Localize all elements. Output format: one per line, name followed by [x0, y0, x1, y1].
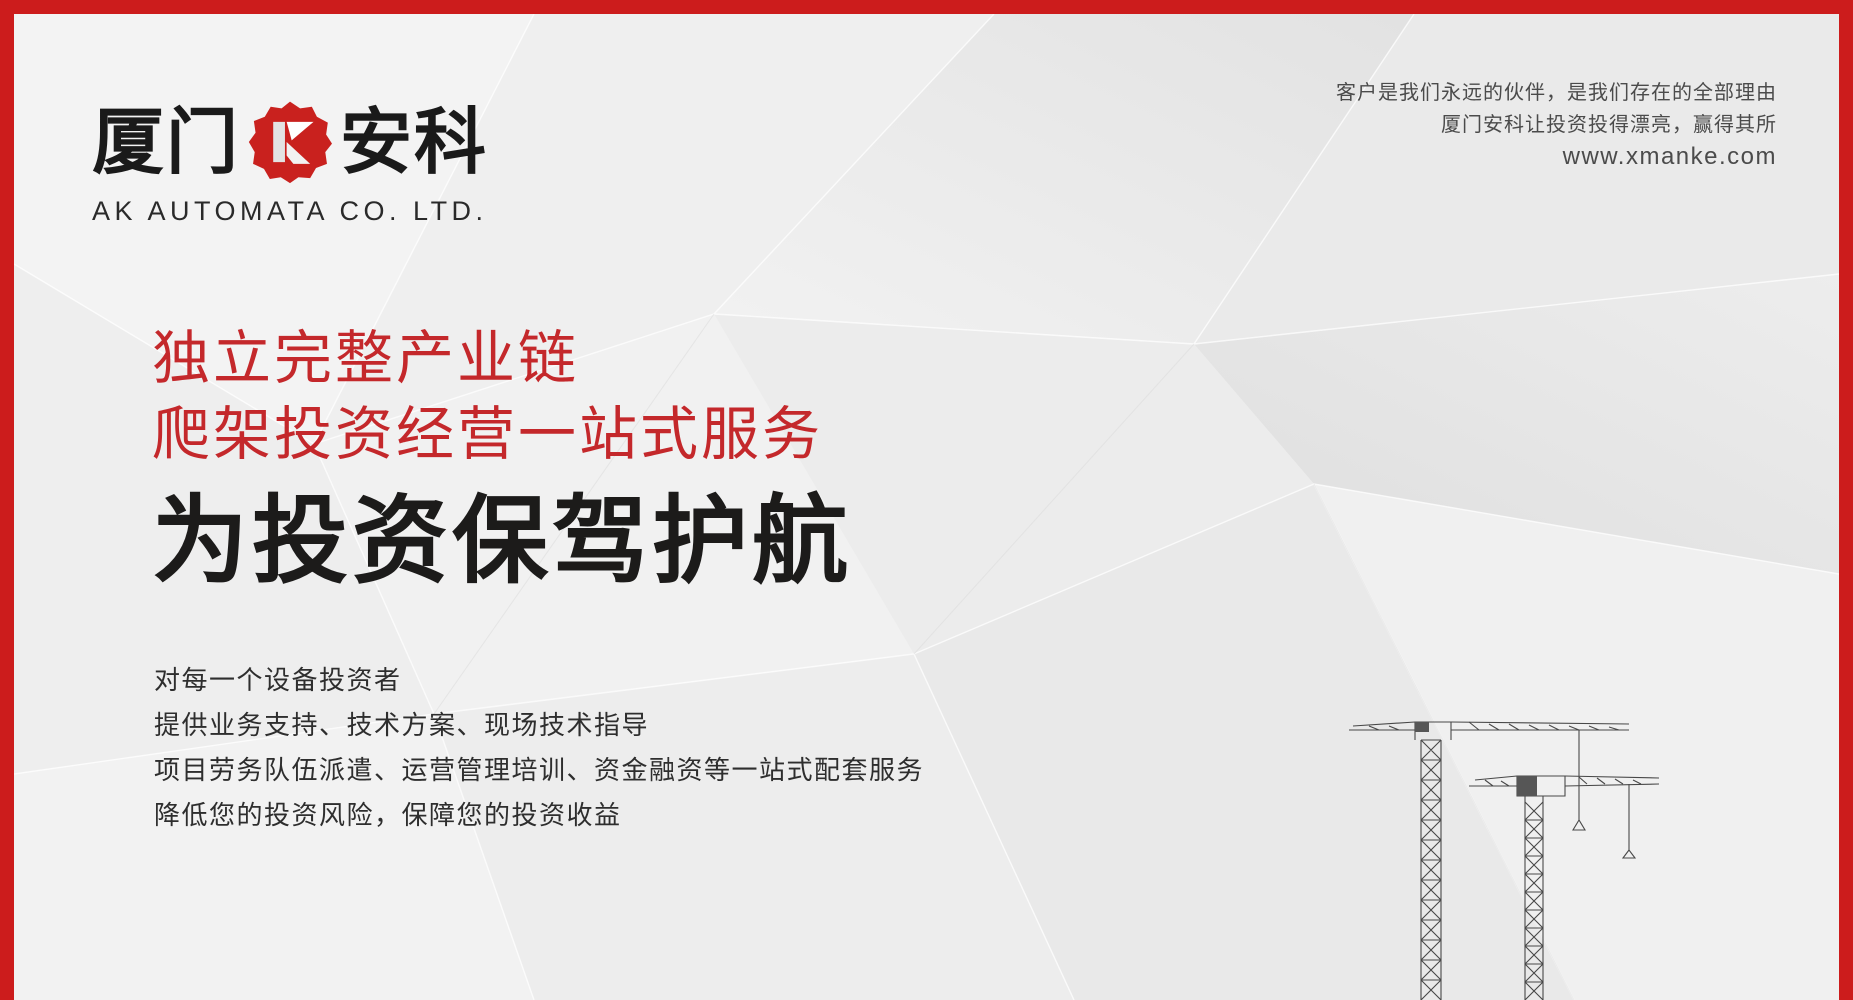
logo-wordmark-row: 厦门 安科 [92, 102, 488, 182]
headline-red-line-2: 爬架投资经营一站式服务 [152, 396, 852, 472]
tower-crane-illustration [1329, 700, 1689, 1000]
body-line: 项目劳务队伍派遣、运营管理培训、资金融资等一站式配套服务 [154, 749, 924, 794]
brand-logo: 厦门 安科 AK AUTOMATA CO. LTD. [92, 102, 488, 227]
headline-block: 独立完整产业链 爬架投资经营一站式服务 为投资保驾护航 [152, 320, 852, 596]
body-line: 降低您的投资风险，保障您的投资收益 [154, 794, 924, 839]
headline-main-slogan: 为投资保驾护航 [152, 486, 852, 596]
tagline-line-2: 厦门安科让投资投得漂亮，赢得其所 [1336, 108, 1777, 140]
logo-company-english: AK AUTOMATA CO. LTD. [92, 196, 488, 227]
corporate-tagline: 客户是我们永远的伙伴，是我们存在的全部理由 厦门安科让投资投得漂亮，赢得其所 w… [1336, 76, 1777, 174]
logo-text-left: 厦门 [92, 105, 240, 179]
logo-text-right: 安科 [340, 105, 488, 179]
poster-root: 厦门 安科 AK AUTOMATA CO. LTD. 客户是我们永远的伙伴，是我… [0, 0, 1853, 1000]
body-copy-block: 对每一个设备投资者 提供业务支持、技术方案、现场技术指导 项目劳务队伍派遣、运营… [154, 659, 924, 839]
tagline-line-1: 客户是我们永远的伙伴，是我们存在的全部理由 [1336, 76, 1777, 108]
poster-stage: 厦门 安科 AK AUTOMATA CO. LTD. 客户是我们永远的伙伴，是我… [14, 14, 1839, 1000]
logo-k-mark-icon [248, 100, 332, 184]
body-line: 对每一个设备投资者 [154, 659, 924, 704]
headline-red-line-1: 独立完整产业链 [152, 320, 852, 396]
body-line: 提供业务支持、技术方案、现场技术指导 [154, 704, 924, 749]
website-url[interactable]: www.xmanke.com [1336, 140, 1777, 174]
